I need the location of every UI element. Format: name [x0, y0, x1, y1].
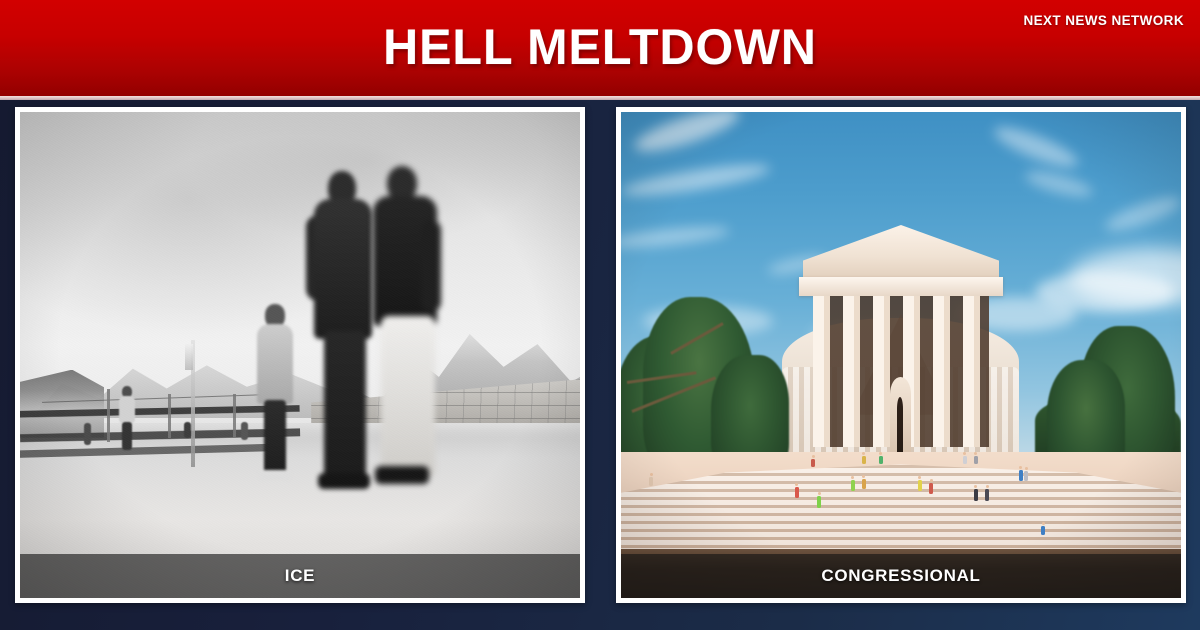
- caption-label-left: ICE: [285, 566, 315, 586]
- visitor-1: [795, 487, 799, 498]
- bw-distant-person-3: [241, 422, 248, 440]
- news-graphic-page: HELL MELTDOWN NEXT NEWS NETWORK: [0, 0, 1200, 630]
- visitor-3: [851, 480, 855, 491]
- visitor-8: [985, 489, 989, 501]
- visitor-5: [918, 480, 922, 491]
- bw-person-hoodie: [255, 304, 295, 484]
- visitor-14: [963, 456, 967, 464]
- bw-person-distant: [118, 386, 136, 452]
- header-banner: HELL MELTDOWN NEXT NEWS NETWORK: [0, 0, 1200, 96]
- bw-post-3: [233, 394, 236, 438]
- visitor-10: [1024, 471, 1028, 481]
- jefferson-memorial: [772, 214, 1030, 486]
- bw-distant-person-1: [84, 423, 91, 445]
- network-branding: NEXT NEWS NETWORK: [1023, 13, 1184, 28]
- header-divider: [0, 96, 1200, 100]
- visitor-11: [811, 459, 815, 467]
- visitor-13: [879, 456, 883, 464]
- memorial-scene: [621, 112, 1181, 598]
- photo-ice: ICE: [20, 112, 580, 598]
- page-title: HELL MELTDOWN: [18, 18, 1182, 76]
- bw-distant-person-2: [184, 422, 191, 438]
- memorial-architrave: [799, 277, 1002, 295]
- visitor-2: [817, 496, 821, 508]
- visitor-15: [974, 456, 978, 464]
- photo-panels: ICE: [0, 107, 1200, 603]
- bw-person-lightpants: [367, 166, 449, 506]
- visitor-16: [649, 477, 653, 486]
- visitor-7: [974, 489, 978, 501]
- visitor-6: [929, 483, 933, 494]
- memorial-pediment: [803, 225, 999, 282]
- caption-bar-right: CONGRESSIONAL: [621, 554, 1181, 598]
- visitor-4: [862, 479, 866, 489]
- caption-bar-left: ICE: [20, 554, 580, 598]
- visitor-9: [1019, 470, 1023, 481]
- photo-congressional: CONGRESSIONAL: [621, 112, 1181, 598]
- panel-right-congressional[interactable]: CONGRESSIONAL: [616, 107, 1186, 603]
- caption-label-right: CONGRESSIONAL: [821, 566, 980, 586]
- bw-post-1: [107, 389, 110, 442]
- visitor-12: [862, 456, 866, 464]
- panel-left-ice[interactable]: ICE: [15, 107, 585, 603]
- memorial-portico: [813, 225, 988, 486]
- bw-flag: [185, 344, 193, 370]
- bw-post-2: [168, 394, 171, 438]
- visitor-17: [1041, 526, 1045, 535]
